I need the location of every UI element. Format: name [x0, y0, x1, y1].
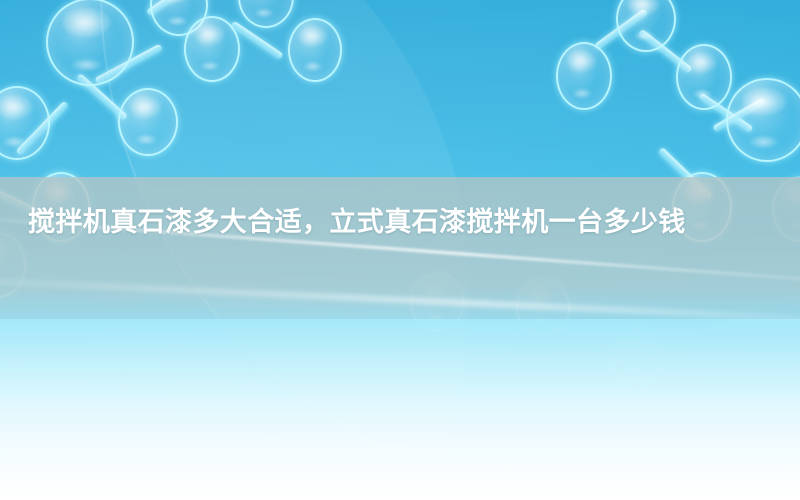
headline-container: 搅拌机真石漆多大合适，立式真石漆搅拌机一台多少钱 — [28, 198, 776, 248]
banner: 搅拌机真石漆多大合适，立式真石漆搅拌机一台多少钱 — [0, 0, 800, 500]
molecule-bubble — [726, 78, 800, 162]
overlay-band-pale — [0, 319, 800, 500]
page-title: 搅拌机真石漆多大合适，立式真石漆搅拌机一台多少钱 — [28, 198, 776, 248]
molecule-bubble — [676, 44, 732, 110]
molecule-bubble — [616, 0, 676, 52]
molecule-bubble — [556, 42, 612, 110]
